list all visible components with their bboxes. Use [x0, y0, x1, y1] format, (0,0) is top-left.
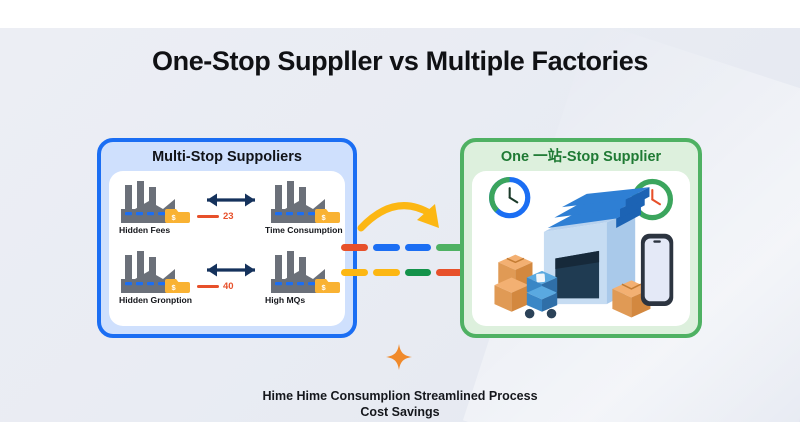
comparison-label-right: Time Consumption: [265, 225, 343, 235]
factory-icon: $: [269, 249, 341, 293]
metric-badge: 40: [197, 281, 234, 292]
comparison-row: $ 23: [109, 177, 345, 243]
comparison-label-left: Hidden Fees: [119, 225, 170, 235]
curved-arrow-icon: [355, 190, 451, 238]
panel-one-stop-supplier[interactable]: One 一站-Stop Supplier: [460, 138, 702, 338]
factory-icon: $: [119, 179, 191, 223]
panel-right-header: One 一站-Stop Supplier: [464, 142, 698, 172]
pallet-goods-icon: [525, 271, 557, 319]
connector-dashes: [341, 240, 463, 284]
metric-value: 23: [223, 211, 234, 222]
dash-segment: [341, 269, 368, 276]
bottom-caption-line2: Cost Savings: [0, 404, 800, 420]
dash-row-bottom: [341, 269, 463, 276]
metric-value: 40: [223, 281, 234, 292]
comparison-label-right: High MQs: [265, 295, 305, 305]
bottom-caption-line1: Hime Hime Consumplion Streamlined Proces…: [0, 388, 800, 404]
warehouse-illustration: [472, 171, 690, 326]
panel-left-body: $ 23: [109, 171, 345, 326]
slide-canvas: One-Stop Suppller vs Multiple Factories …: [0, 0, 800, 422]
bottom-caption: Hime Hime Consumplion Streamlined Proces…: [0, 388, 800, 420]
dash-segment: [341, 244, 368, 251]
comparison-label-left: Hidden Gronption: [119, 295, 192, 305]
dash-segment: [405, 269, 432, 276]
dash-segment: [405, 244, 432, 251]
panel-multi-stop-suppliers[interactable]: Multi-Stop Suppoliers $: [97, 138, 357, 338]
factory-icon: $: [119, 249, 191, 293]
clock-blue-icon: [492, 180, 528, 216]
metric-bar: [197, 215, 219, 218]
metric-badge: 23: [197, 211, 234, 222]
panel-left-header: Multi-Stop Suppoliers: [101, 142, 353, 172]
dash-segment: [436, 269, 463, 276]
factory-icon: $: [269, 179, 341, 223]
page-title: One-Stop Suppller vs Multiple Factories: [0, 46, 800, 77]
comparison-row: $ 40: [109, 247, 345, 313]
four-point-star-icon: [386, 344, 412, 370]
dash-segment: [373, 269, 400, 276]
metric-bar: [197, 285, 219, 288]
dash-segment: [373, 244, 400, 251]
dash-segment: [436, 244, 463, 251]
smartphone-icon: [641, 234, 673, 306]
panel-right-body: [472, 171, 690, 326]
dash-row-top: [341, 244, 463, 251]
